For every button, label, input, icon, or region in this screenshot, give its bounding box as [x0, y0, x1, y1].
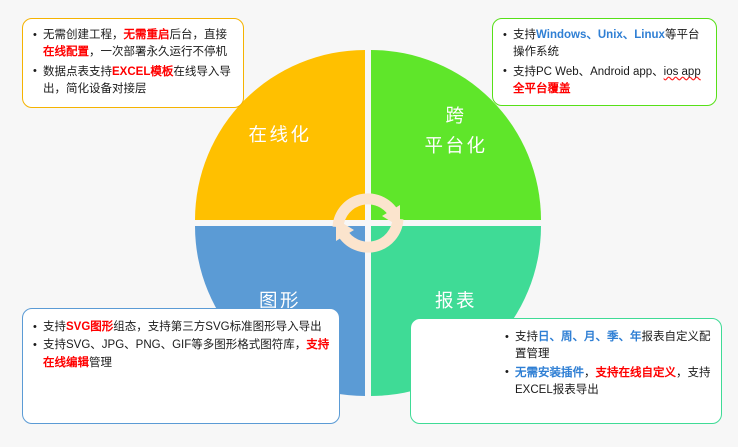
wheel-label-online-line1: 在线化: [248, 120, 311, 150]
callout-cross-platform-item-0: 支持Windows、Unix、Linux等平台操作系统: [513, 29, 699, 58]
callout-graphics[interactable]: 支持SVG图形组态，支持第三方SVG标准图形导入导出 支持SVG、JPG、PNG…: [22, 308, 340, 424]
text-run-plain: 数据点表支持: [43, 66, 112, 78]
list-item: 支持SVG、JPG、PNG、GIF等多图形格式图符库，支持在线编辑管理: [33, 337, 331, 372]
text-run-red: EXCEL模板: [112, 66, 173, 78]
text-run-plain: 支持SVG、JPG、PNG、GIF等多图形格式图符库，: [43, 339, 306, 351]
text-run-plain: 支持: [43, 321, 66, 333]
text-run-blue: Windows、Unix、Linux: [536, 29, 665, 41]
wheel-label-cross-platform-line2: 平台化: [424, 131, 487, 161]
wheel-label-cross-platform-line1: 跨: [445, 101, 466, 131]
text-run-plain: 支持: [515, 331, 538, 343]
callout-cross-platform-list: 支持Windows、Unix、Linux等平台操作系统 支持PC Web、And…: [503, 27, 708, 99]
callout-online-item-0: 无需创建工程，无需重启后台，直接在线配置，一次部署永久运行不停机: [43, 29, 227, 58]
callout-report-item-1: 无需安装插件，支持在线自定义，支持EXCEL报表导出: [515, 367, 711, 396]
text-run-blue: 无需安装插件: [515, 367, 584, 379]
callout-report[interactable]: 支持日、周、月、季、年报表自定义配置管理 无需安装插件，支持在线自定义，支持EX…: [410, 318, 722, 424]
list-item: 支持SVG图形组态，支持第三方SVG标准图形导入导出: [33, 319, 331, 336]
list-item: 支持日、周、月、季、年报表自定义配置管理: [505, 329, 713, 364]
callout-report-list: 支持日、周、月、季、年报表自定义配置管理 无需安装插件，支持在线自定义，支持EX…: [505, 329, 713, 400]
text-run-plain: ，一次部署永久运行不停机: [89, 46, 227, 58]
callout-online-item-1: 数据点表支持EXCEL模板在线导入导出，简化设备对接层: [43, 66, 231, 95]
diagram-canvas: 在线化 跨 平台化 图形 组态化 报表 自定义化 无需创建工程，无需重启后台，直…: [0, 0, 738, 447]
callout-cross-platform-item-1: 支持PC Web、Android app、ios app全平台覆盖: [513, 66, 701, 95]
callout-online-list: 无需创建工程，无需重启后台，直接在线配置，一次部署永久运行不停机 数据点表支持E…: [33, 27, 235, 99]
callout-online[interactable]: 无需创建工程，无需重启后台，直接在线配置，一次部署永久运行不停机 数据点表支持E…: [22, 18, 244, 108]
text-run-plain: 支持: [513, 29, 536, 41]
list-item: 支持PC Web、Android app、ios app全平台覆盖: [503, 64, 708, 99]
callout-graphics-item-1: 支持SVG、JPG、PNG、GIF等多图形格式图符库，支持在线编辑管理: [43, 339, 329, 368]
list-item: 无需安装插件，支持在线自定义，支持EXCEL报表导出: [505, 365, 713, 400]
text-run-red: 无需重启: [124, 29, 170, 41]
text-run-plain: 管理: [89, 357, 112, 369]
text-run-plain: 支持PC Web、Android app、: [513, 66, 664, 78]
text-run-red: 支持在线自定义: [596, 367, 677, 379]
wheel-label-report-line1: 报表: [435, 286, 477, 316]
text-run-plain: 无需创建工程，: [43, 29, 124, 41]
list-item: 支持Windows、Unix、Linux等平台操作系统: [503, 27, 708, 62]
text-run-red: 全平台覆盖: [513, 83, 571, 95]
callout-graphics-list: 支持SVG图形组态，支持第三方SVG标准图形导入导出 支持SVG、JPG、PNG…: [33, 319, 331, 372]
list-item: 无需创建工程，无需重启后台，直接在线配置，一次部署永久运行不停机: [33, 27, 235, 62]
callout-report-item-0: 支持日、周、月、季、年报表自定义配置管理: [515, 331, 711, 360]
text-run-red: SVG图形: [66, 321, 113, 333]
callout-cross-platform[interactable]: 支持Windows、Unix、Linux等平台操作系统 支持PC Web、And…: [492, 18, 717, 106]
text-run-plain: 组态，支持第三方SVG标准图形导入导出: [113, 321, 321, 333]
list-item: 数据点表支持EXCEL模板在线导入导出，简化设备对接层: [33, 64, 235, 99]
text-run-squiggle: ios app: [664, 66, 701, 78]
text-run-blue: 日、周、月、季、年: [538, 331, 642, 343]
callout-graphics-item-0: 支持SVG图形组态，支持第三方SVG标准图形导入导出: [43, 321, 322, 333]
text-run-plain: ，: [584, 367, 596, 379]
text-run-plain: 后台，直接: [170, 29, 228, 41]
text-run-red: 在线配置: [43, 46, 89, 58]
